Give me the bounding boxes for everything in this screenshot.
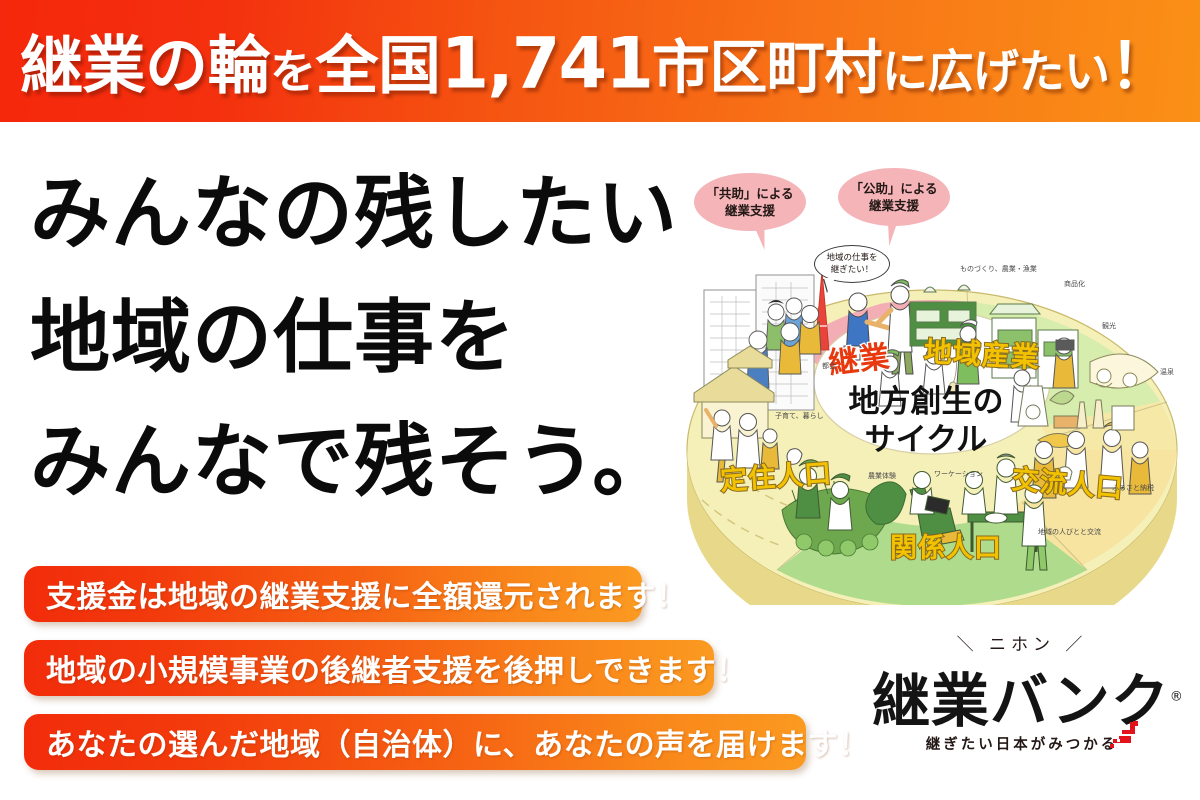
micro-note-workation: ワーケーション xyxy=(934,470,983,479)
micro-note-kosodate: 子育て、暮らし xyxy=(775,412,824,421)
sector-label-chiiki-sangyo: 地域産業 xyxy=(923,330,1041,376)
callout-kojo-line1: 「公助」による xyxy=(850,180,937,197)
speech-bubble-line1: 地域の仕事を xyxy=(826,252,877,264)
callout-kyojo-line1: 「共助」による xyxy=(706,185,793,202)
benefit-label-3: あなたの選んだ地域（自治体）に、あなたの声を届けます！ xyxy=(46,720,869,764)
cycle-center-title-line2: サイクル xyxy=(826,421,1026,459)
micro-note-onsen: 温泉 xyxy=(1160,368,1174,377)
logo-nihon-text: ＼ ニホン ／ xyxy=(872,630,1172,655)
japan-map-icon xyxy=(1108,720,1142,752)
regional-revitalization-cycle-illustration: 「共助」による 継業支援 「公助」による 継業支援 地域の仕事を 継ぎたい！ 継… xyxy=(672,150,1192,605)
brand-logo: ＼ ニホン ／ 継業バンク® 継ぎたい日本がみつかる xyxy=(872,630,1172,780)
benefit-label-1: 支援金は地域の継業支援に全額還元されます！ xyxy=(46,572,687,616)
sector-label-keigyo: 継業 xyxy=(826,331,893,382)
cycle-center-title: 地方創生の サイクル xyxy=(826,383,1026,459)
page-title: みんなの残したい 地域の仕事を みんなで残そう。 xyxy=(30,152,690,524)
headline-line-2: 地域の仕事を xyxy=(30,276,690,400)
benefit-item-3: あなたの選んだ地域（自治体）に、あなたの声を届けます！ xyxy=(24,714,806,770)
headline-line-3: みんなで残そう。 xyxy=(30,400,690,524)
speech-bubble-line2: 継ぎたい！ xyxy=(831,264,874,276)
micro-note-shohinka: 商品化 xyxy=(1064,280,1085,289)
callout-kojo-line2: 継業支援 xyxy=(869,197,919,214)
callout-kyojo-line2: 継業支援 xyxy=(725,202,775,219)
header-part1: 継業の輪 xyxy=(20,30,270,103)
callout-kojo: 「公助」による 継業支援 xyxy=(838,168,950,226)
header-number: 1,741 xyxy=(441,23,652,105)
header-headline: 継業の輪を全国1,741市区町村に広げたい！ xyxy=(20,16,1185,107)
micro-note-chiiki-koryu: 地域の人びとと交流 xyxy=(1038,528,1101,537)
header-banner: 継業の輪を全国1,741市区町村に広げたい！ xyxy=(0,0,1200,122)
header-part3: 全国 xyxy=(316,30,441,103)
sector-label-teiju-jinko: 定住人口 xyxy=(719,451,833,498)
micro-note-shakai: 都会 xyxy=(822,362,836,371)
cycle-center-title-line1: 地方創生の xyxy=(826,383,1026,421)
micro-note-kanko: 観光 xyxy=(1102,322,1116,331)
poster-root: 継業の輪を全国1,741市区町村に広げたい！ みんなの残したい 地域の仕事を み… xyxy=(0,0,1200,800)
micro-note-monozukuri: ものづくり、農業・漁業 xyxy=(960,265,1037,274)
speech-bubble-tail xyxy=(824,278,835,292)
headline-line-1: みんなの残したい xyxy=(30,152,690,276)
header-part4: 市区町村 xyxy=(652,34,882,102)
benefit-item-2: 地域の小規模事業の後継者支援を後押しできます！ xyxy=(24,640,714,696)
benefit-label-2: 地域の小規模事業の後継者支援を後押しできます！ xyxy=(46,646,747,690)
header-part2: を xyxy=(270,45,316,99)
registered-trademark-icon: ® xyxy=(1170,690,1184,705)
micro-note-nogyo-taiken: 農業体験 xyxy=(868,472,896,481)
header-part5: に広げたい xyxy=(882,45,1110,99)
header-exclamation: ！ xyxy=(1109,30,1171,103)
benefit-item-1: 支援金は地域の継業支援に全額還元されます！ xyxy=(24,566,642,622)
sector-label-kankei-jinko: 関係人口 xyxy=(890,526,1002,565)
micro-note-furusato-nozei: ふるさと納税 xyxy=(1112,484,1154,493)
callout-kyojo: 「共助」による 継業支援 xyxy=(694,173,806,231)
